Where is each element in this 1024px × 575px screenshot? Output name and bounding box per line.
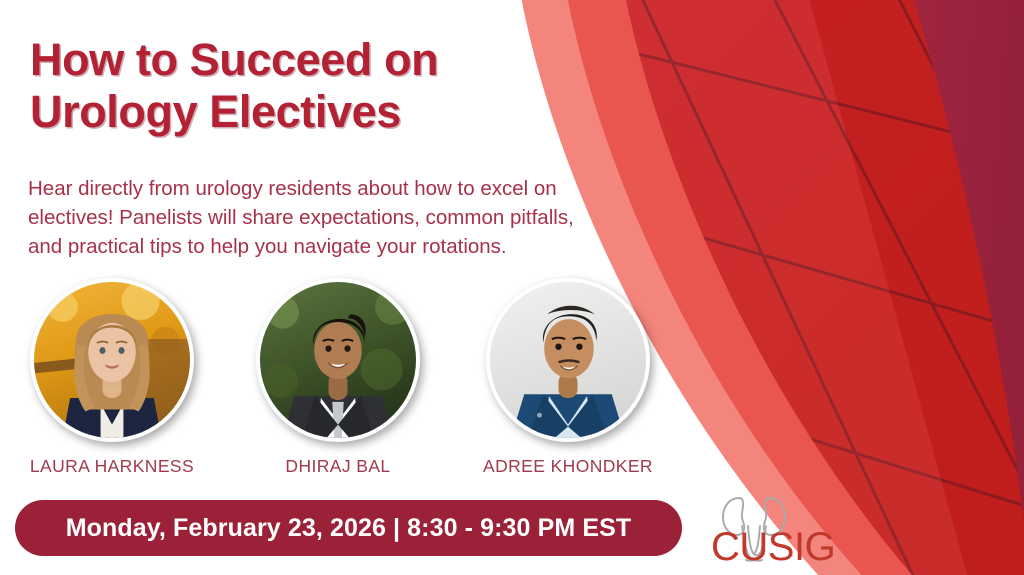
event-datetime-banner: Monday, February 23, 2026 | 8:30 - 9:30 … <box>15 500 682 556</box>
event-datetime-text: Monday, February 23, 2026 | 8:30 - 9:30 … <box>66 514 632 543</box>
description-line-2: electives! Panelists will share expectat… <box>28 203 678 232</box>
page-title: How to Succeed on Urology Electives <box>30 34 590 138</box>
cusig-wordmark: CUSIG <box>711 525 835 568</box>
panelist-item: ADREE KHONDKER <box>468 278 668 477</box>
title-line-2: Urology Electives <box>30 86 590 138</box>
panelist-name: DHIRAJ BAL <box>238 456 438 477</box>
panelist-list: LAURA HARKNESS <box>0 278 700 488</box>
description-text: Hear directly from urology residents abo… <box>28 174 678 261</box>
poster-canvas: How to Succeed on Urology Electives Hear… <box>0 0 1024 575</box>
description-line-3: and practical tips to help you navigate … <box>28 232 678 261</box>
content-column: How to Succeed on Urology Electives Hear… <box>0 0 700 575</box>
title-line-1: How to Succeed on <box>30 34 590 86</box>
panelist-item: DHIRAJ BAL <box>238 278 438 477</box>
panelist-avatar <box>256 278 420 442</box>
panelist-name: LAURA HARKNESS <box>12 456 212 477</box>
panelist-avatar <box>30 278 194 442</box>
panelist-avatar <box>486 278 650 442</box>
art-dark-maroon-wedge <box>908 0 1024 520</box>
description-line-1: Hear directly from urology residents abo… <box>28 174 678 203</box>
panelist-name: ADREE KHONDKER <box>468 456 668 477</box>
cusig-logo: CUSIG <box>703 482 843 568</box>
panelist-item: LAURA HARKNESS <box>12 278 212 477</box>
